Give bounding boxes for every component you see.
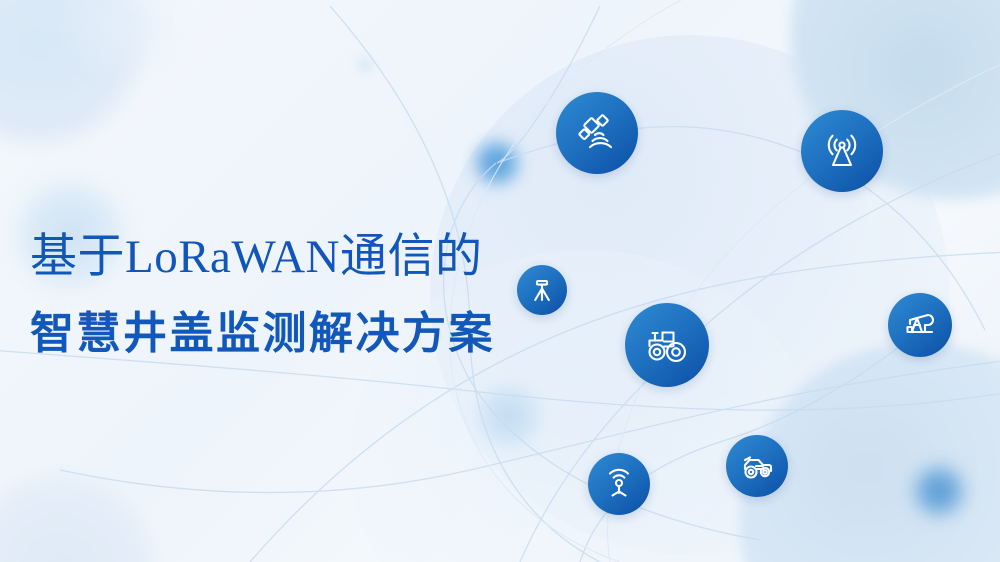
harvester-icon [738, 447, 776, 485]
sensor-beacon-icon [601, 466, 637, 502]
page-title-line-2: 智慧井盖监测解决方案 [30, 304, 590, 364]
tractor-icon [642, 320, 692, 370]
node-sensor-beacon[interactable] [588, 453, 650, 515]
slide-canvas: 基于LoRaWAN通信的 智慧井盖监测解决方案 [0, 0, 1000, 562]
satellite-icon [574, 110, 620, 156]
survey-tripod-icon [528, 276, 556, 304]
node-harvester[interactable] [726, 435, 788, 497]
node-oil-pumpjack[interactable] [888, 293, 952, 357]
node-survey-tripod[interactable] [517, 265, 567, 315]
node-radio-tower[interactable] [801, 110, 883, 192]
node-tractor[interactable] [625, 303, 709, 387]
radio-tower-icon [820, 129, 864, 173]
title-block: 基于LoRaWAN通信的 智慧井盖监测解决方案 [30, 228, 590, 364]
page-title-line-1: 基于LoRaWAN通信的 [30, 228, 590, 286]
node-satellite[interactable] [556, 92, 638, 174]
oil-pumpjack-icon [901, 306, 939, 344]
